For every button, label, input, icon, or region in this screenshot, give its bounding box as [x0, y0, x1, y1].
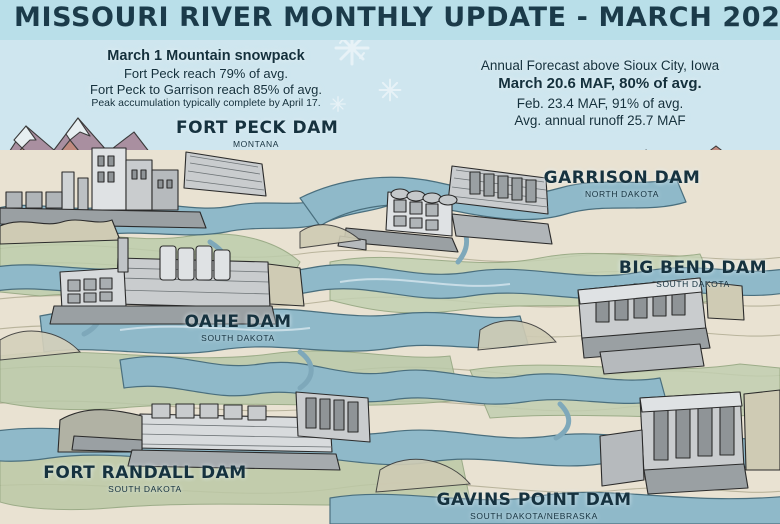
page-title: MISSOURI RIVER MONTHLY UPDATE - MARCH 20…: [14, 2, 780, 33]
dam-label-fort-randall: FORT RANDALL DAM SOUTH DAKOTA: [42, 463, 248, 494]
snowpack-heading: March 1 Mountain snowpack: [56, 48, 356, 66]
dam-label-garrison: GARRISON DAM NORTH DAKOTA: [542, 168, 702, 199]
snowpack-info-block: March 1 Mountain snowpack Fort Peck reac…: [56, 48, 356, 110]
dam-name-big-bend: BIG BEND DAM: [618, 258, 768, 278]
infographic-poster: MISSOURI RIVER MONTHLY UPDATE - MARCH 20…: [0, 0, 780, 524]
dam-name-oahe: OAHE DAM: [168, 312, 308, 332]
dam-name-garrison: GARRISON DAM: [542, 168, 702, 188]
dam-label-gavins-point: GAVINS POINT DAM SOUTH DAKOTA/NEBRASKA: [434, 490, 634, 521]
dam-state-fort-peck: MONTANA: [176, 139, 336, 149]
forecast-heading: Annual Forecast above Sioux City, Iowa: [440, 58, 760, 74]
dam-name-fort-randall: FORT RANDALL DAM: [42, 463, 248, 483]
forecast-february: Feb. 23.4 MAF, 91% of avg.: [440, 96, 760, 112]
dam-name-fort-peck: FORT PECK DAM: [176, 118, 336, 138]
dam-label-oahe: OAHE DAM SOUTH DAKOTA: [168, 312, 308, 343]
snowpack-peak-note: Peak accumulation typically complete by …: [56, 97, 356, 110]
dam-name-gavins-point: GAVINS POINT DAM: [434, 490, 634, 510]
dam-label-big-bend: BIG BEND DAM SOUTH DAKOTA: [618, 258, 768, 289]
dam-label-fort-peck: FORT PECK DAM MONTANA: [176, 118, 336, 149]
dam-state-garrison: NORTH DAKOTA: [542, 189, 702, 199]
forecast-march: March 20.6 MAF, 80% of avg.: [440, 75, 760, 93]
dam-state-big-bend: SOUTH DAKOTA: [618, 279, 768, 289]
forecast-info-block: Annual Forecast above Sioux City, Iowa M…: [440, 58, 760, 130]
dam-state-gavins-point: SOUTH DAKOTA/NEBRASKA: [434, 511, 634, 521]
snowpack-fort-peck-to-garrison: Fort Peck to Garrison reach 85% of avg.: [56, 82, 356, 98]
snowpack-fort-peck-reach: Fort Peck reach 79% of avg.: [56, 66, 356, 82]
forecast-average-runoff: Avg. annual runoff 25.7 MAF: [440, 113, 760, 129]
dam-state-fort-randall: SOUTH DAKOTA: [42, 484, 248, 494]
dam-state-oahe: SOUTH DAKOTA: [168, 333, 308, 343]
